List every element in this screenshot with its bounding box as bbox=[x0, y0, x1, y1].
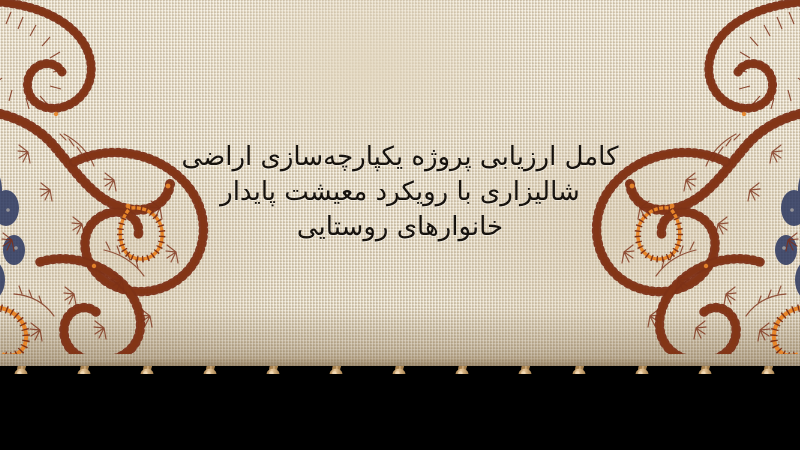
slide-title: کامل ارزیابی پروژه یکپارچه‌سازی اراضی شا… bbox=[0, 140, 800, 245]
title-line-3: خانوارهای روستایی bbox=[0, 210, 800, 245]
black-backdrop bbox=[0, 374, 800, 450]
title-line-2: شالیزاری با رویکرد معیشت پایدار bbox=[0, 175, 800, 210]
slide-canvas: کامل ارزیابی پروژه یکپارچه‌سازی اراضی شا… bbox=[0, 0, 800, 450]
title-line-1: کامل ارزیابی پروژه یکپارچه‌سازی اراضی bbox=[0, 140, 800, 175]
